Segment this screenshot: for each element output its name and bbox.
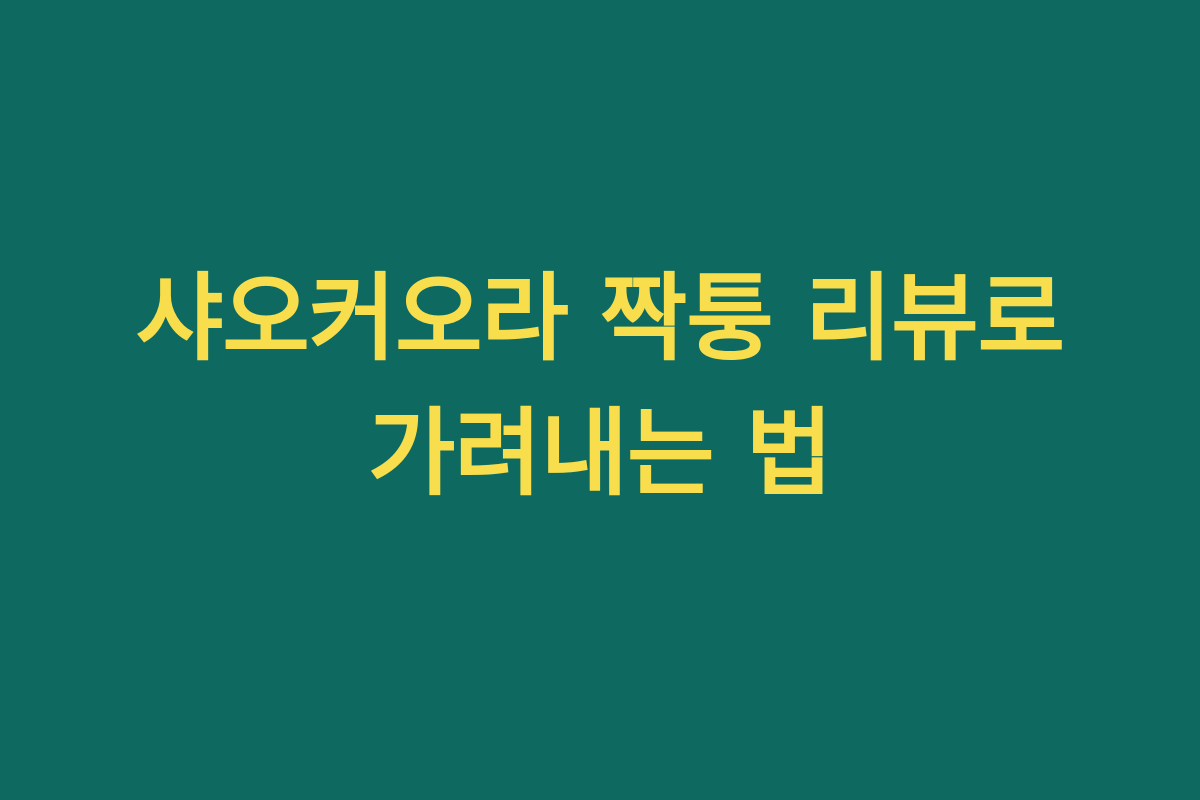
title-line-1: 샤오커오라 짝퉁 리뷰로 [40,252,1160,387]
title-line-2: 가려내는 법 [40,387,1160,522]
thumbnail-canvas: 샤오커오라 짝퉁 리뷰로 가려내는 법 [0,0,1200,800]
title-block: 샤오커오라 짝퉁 리뷰로 가려내는 법 [0,252,1200,522]
